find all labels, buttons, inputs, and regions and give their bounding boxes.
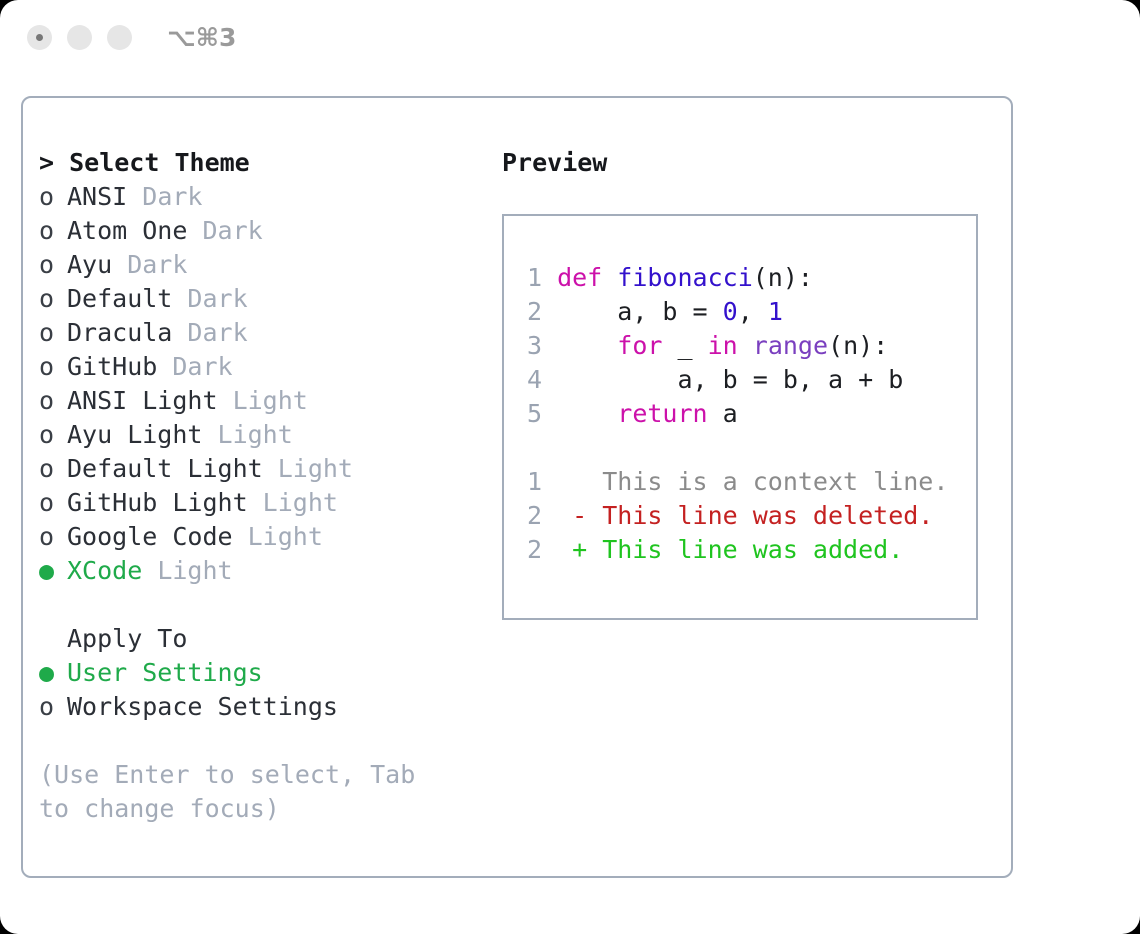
- theme-option-ansi-light[interactable]: oANSI Light Light: [39, 384, 479, 418]
- theme-list: oANSI DarkoAtom One DarkoAyu DarkoDefaul…: [39, 180, 479, 588]
- diff-line-number: 2: [514, 533, 542, 567]
- theme-option-default-light[interactable]: oDefault Light Light: [39, 452, 479, 486]
- code-token: [738, 331, 753, 360]
- code-token: (n):: [753, 263, 813, 292]
- theme-option-github[interactable]: oGitHub Dark: [39, 350, 479, 384]
- theme-option-label: Ayu: [67, 250, 112, 279]
- theme-option-ansi[interactable]: oANSI Dark: [39, 180, 479, 214]
- code-token: fibonacci: [617, 263, 752, 292]
- code-line: 3 for _ in range(n):: [514, 329, 972, 363]
- theme-option-kind-badge: Light: [248, 488, 338, 517]
- apply-to-option-label: Workspace Settings: [67, 692, 338, 721]
- window-close-button[interactable]: [27, 25, 52, 50]
- apply-to-list: ●User SettingsoWorkspace Settings: [39, 656, 479, 724]
- theme-option-label: Google Code: [67, 522, 233, 551]
- theme-option-kind-badge: Dark: [172, 318, 247, 347]
- theme-option-kind-badge: Light: [202, 420, 292, 449]
- theme-option-xcode[interactable]: ●XCode Light: [39, 554, 479, 588]
- theme-picker-panel: > Select Theme oANSI DarkoAtom One Darko…: [21, 96, 1013, 878]
- code-line: 4 a, b = b, a + b: [514, 363, 972, 397]
- radio-unselected-icon: o: [39, 350, 67, 384]
- radio-unselected-icon: o: [39, 316, 67, 350]
- code-token: 0: [723, 297, 738, 326]
- code-preview-spacer: [514, 431, 972, 465]
- theme-option-label: GitHub Light: [67, 488, 248, 517]
- theme-option-default[interactable]: oDefault Dark: [39, 282, 479, 316]
- theme-selection-column: > Select Theme oANSI DarkoAtom One Darko…: [39, 146, 479, 826]
- diff-line: 1 This is a context line.: [514, 465, 972, 499]
- code-token: in: [708, 331, 738, 360]
- theme-option-kind-badge: Dark: [127, 182, 202, 211]
- theme-option-label: Atom One: [67, 216, 187, 245]
- theme-option-kind-badge: Light: [142, 556, 232, 585]
- code-token: a, b = b, a + b: [557, 365, 903, 394]
- code-line: 5 return a: [514, 397, 972, 431]
- code-token: for: [617, 331, 662, 360]
- code-token: (n):: [828, 331, 888, 360]
- code-line-number: 4: [514, 363, 542, 397]
- apply-to-option-user-settings[interactable]: ●User Settings: [39, 656, 479, 690]
- theme-option-kind-badge: Light: [218, 386, 308, 415]
- theme-option-github-light[interactable]: oGitHub Light Light: [39, 486, 479, 520]
- radio-unselected-icon: o: [39, 690, 67, 724]
- radio-unselected-icon: o: [39, 486, 67, 520]
- theme-option-ayu-light[interactable]: oAyu Light Light: [39, 418, 479, 452]
- radio-unselected-icon: o: [39, 418, 67, 452]
- code-line-number: 3: [514, 329, 542, 363]
- diff-line: 2 - This line was deleted.: [514, 499, 972, 533]
- code-line-number: 2: [514, 295, 542, 329]
- preview-header: Preview: [502, 146, 992, 180]
- apply-to-section: Apply To ●User SettingsoWorkspace Settin…: [39, 622, 479, 724]
- radio-unselected-icon: o: [39, 180, 67, 214]
- theme-option-label: ANSI: [67, 182, 127, 211]
- apply-to-option-workspace-settings[interactable]: oWorkspace Settings: [39, 690, 479, 724]
- code-line: 1 def fibonacci(n):: [514, 261, 972, 295]
- select-theme-header: > Select Theme: [39, 146, 479, 180]
- radio-unselected-icon: o: [39, 384, 67, 418]
- radio-unselected-icon: o: [39, 282, 67, 316]
- keyboard-hint-text: (Use Enter to select, Tab to change focu…: [39, 758, 439, 826]
- diff-line-text: This is a context line.: [602, 467, 948, 496]
- radio-unselected-icon: o: [39, 248, 67, 282]
- theme-option-google-code[interactable]: oGoogle Code Light: [39, 520, 479, 554]
- code-token: _: [662, 331, 707, 360]
- radio-unselected-icon: o: [39, 452, 67, 486]
- theme-option-label: XCode: [67, 556, 142, 585]
- radio-selected-icon: ●: [39, 656, 67, 690]
- theme-option-label: Ayu Light: [67, 420, 202, 449]
- apply-to-option-label: User Settings: [67, 658, 263, 687]
- diff-marker: +: [572, 535, 602, 564]
- diff-line-text: This line was added.: [602, 535, 903, 564]
- theme-option-kind-badge: Dark: [157, 352, 232, 381]
- code-token: ,: [738, 297, 768, 326]
- window-maximize-button[interactable]: [107, 25, 132, 50]
- apply-to-header: Apply To: [39, 622, 479, 656]
- diff-line-number: 1: [514, 465, 542, 499]
- code-line-number: 1: [514, 261, 542, 295]
- code-preview-box: 1 def fibonacci(n):2 a, b = 0, 13 for _ …: [502, 214, 978, 620]
- diff-marker: -: [572, 501, 602, 530]
- code-token: a: [708, 399, 738, 428]
- theme-option-label: Default Light: [67, 454, 263, 483]
- code-token: range: [753, 331, 828, 360]
- diff-line-text: This line was deleted.: [602, 501, 933, 530]
- theme-option-label: Default: [67, 284, 172, 313]
- window-minimize-button[interactable]: [67, 25, 92, 50]
- code-token: def: [557, 263, 617, 292]
- theme-option-dracula[interactable]: oDracula Dark: [39, 316, 479, 350]
- radio-selected-icon: ●: [39, 554, 67, 588]
- theme-option-label: Dracula: [67, 318, 172, 347]
- theme-option-label: ANSI Light: [67, 386, 218, 415]
- theme-option-kind-badge: Dark: [172, 284, 247, 313]
- title-bar: ⌥⌘3: [0, 0, 1140, 78]
- keyboard-shortcut-label: ⌥⌘3: [167, 23, 236, 52]
- app-window: ⌥⌘3 > Select Theme oANSI DarkoAtom One D…: [0, 0, 1140, 934]
- theme-option-kind-badge: Light: [263, 454, 353, 483]
- theme-option-label: GitHub: [67, 352, 157, 381]
- code-line-number: 5: [514, 397, 542, 431]
- theme-option-ayu[interactable]: oAyu Dark: [39, 248, 479, 282]
- theme-option-kind-badge: Light: [233, 522, 323, 551]
- theme-option-kind-badge: Dark: [112, 250, 187, 279]
- theme-option-atom-one[interactable]: oAtom One Dark: [39, 214, 479, 248]
- code-token: return: [617, 399, 707, 428]
- radio-unselected-icon: o: [39, 520, 67, 554]
- radio-unselected-icon: o: [39, 214, 67, 248]
- diff-line-number: 2: [514, 499, 542, 533]
- code-token: [557, 331, 617, 360]
- diff-line: 2 + This line was added.: [514, 533, 972, 567]
- theme-option-kind-badge: Dark: [187, 216, 262, 245]
- code-token: [557, 399, 617, 428]
- diff-marker: [572, 467, 602, 496]
- preview-column: Preview 1 def fibonacci(n):2 a, b = 0, 1…: [502, 146, 992, 620]
- code-token: 1: [768, 297, 783, 326]
- code-preview-content: 1 def fibonacci(n):2 a, b = 0, 13 for _ …: [514, 261, 972, 567]
- code-token: a, b =: [557, 297, 723, 326]
- code-line: 2 a, b = 0, 1: [514, 295, 972, 329]
